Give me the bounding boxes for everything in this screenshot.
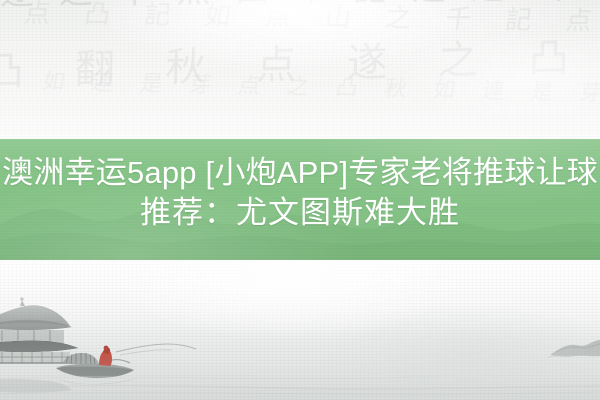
calligraphy-paper-band: 遂 之 千 点 凸 千 記 遂 之 山 遂 記 遂 点 凸 記 如 点 山 之 … bbox=[0, 0, 600, 140]
calligraphy-text-line-3: 凸 翻 秋 点 遂 之 凸 翻 秋 点 記 翻 是 bbox=[0, 39, 597, 140]
painting-scene-svg bbox=[0, 260, 600, 400]
banner-image: 遂 之 千 点 凸 千 記 遂 之 山 遂 記 遂 点 凸 記 如 点 山 之 … bbox=[0, 0, 600, 400]
ink-wash-lake-painting bbox=[0, 260, 600, 400]
headline-line-2: 推荐：尤文图斯难大胜 bbox=[0, 193, 600, 233]
calligraphy-text-line-4: 如 連 是 芽 点 之 凸 秋 如 連 是 芽 凸 bbox=[10, 72, 600, 140]
calligraphy-text-line-2: 点 凸 記 如 点 山 之 千 記 点 之 翻 遂 bbox=[0, 2, 600, 140]
calligraphy-text-line-1: 遂 之 千 点 凸 千 記 遂 之 山 遂 記 遂 bbox=[0, 0, 600, 140]
headline-line-1: 澳洲幸运5app [小炮APP]专家老将推球让球 bbox=[0, 153, 600, 193]
green-headline-bar: 澳洲幸运5app [小炮APP]专家老将推球让球 推荐：尤文图斯难大胜 bbox=[0, 139, 600, 260]
paper-white-wash-overlay bbox=[0, 0, 600, 140]
headline: 澳洲幸运5app [小炮APP]专家老将推球让球 推荐：尤文图斯难大胜 bbox=[0, 153, 600, 233]
paper-weave-texture bbox=[0, 0, 600, 140]
